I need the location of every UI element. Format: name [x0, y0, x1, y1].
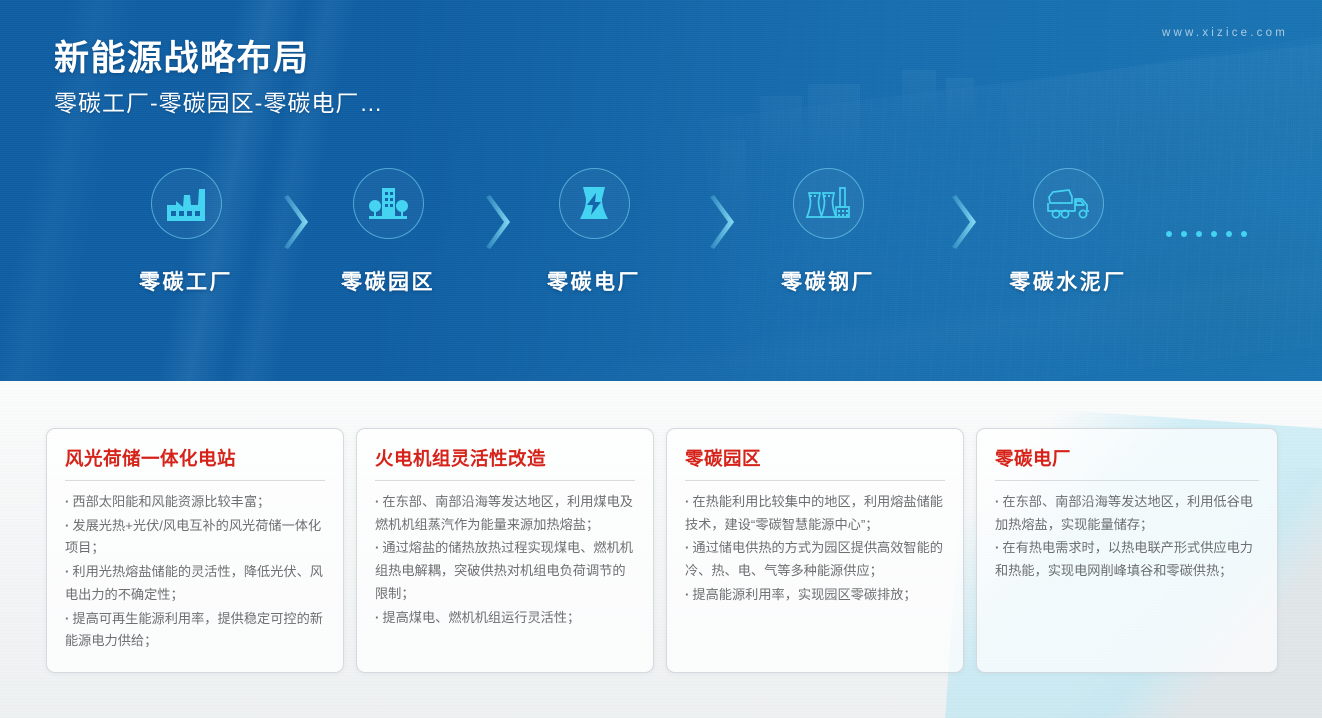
dot — [1181, 231, 1187, 237]
flow-step-label: 零碳园区 — [308, 266, 468, 296]
bullet-item: 在东部、南部沿海等发达地区，利用低谷电加热熔盐，实现能量储存； — [995, 491, 1259, 536]
bullet-item: 在热能利用比较集中的地区，利用熔盐储能技术，建设“零碳智慧能源中心”； — [685, 491, 945, 536]
power-plant-icon-circle — [559, 168, 630, 239]
bullet-item: 提高能源利用率，实现园区零碳排放； — [685, 584, 945, 607]
flow-step-factory[interactable]: 零碳工厂 — [106, 168, 266, 296]
bullet-item: 在有热电需求时，以热电联产形式供应电力和热能，实现电网削峰填谷和零碳供热； — [995, 537, 1259, 582]
card-title: 风光荷储一体化电站 — [65, 445, 325, 481]
factory-icon — [165, 185, 207, 223]
hero-banner: 新能源战略布局 零碳工厂-零碳园区-零碳电厂… www.xizice.com 零… — [0, 0, 1322, 381]
page-title: 新能源战略布局 — [54, 30, 310, 81]
dot — [1211, 231, 1217, 237]
flow-step-steel-plant[interactable]: 零碳钢厂 — [748, 168, 908, 296]
flow-step-label: 零碳电厂 — [514, 266, 674, 296]
card-wind-solar-storage[interactable]: 风光荷储一体化电站 西部太阳能和风能资源比较丰富； 发展光热+光伏/风电互补的风… — [46, 428, 344, 673]
page-subtitle: 零碳工厂-零碳园区-零碳电厂… — [54, 84, 383, 118]
flow-step-park[interactable]: 零碳园区 — [308, 168, 468, 296]
dot — [1226, 231, 1232, 237]
flow-trailing-dots — [1166, 231, 1247, 237]
factory-icon-circle — [151, 168, 222, 239]
card-bullets: 在东部、南部沿海等发达地区，利用低谷电加热熔盐，实现能量储存； 在有热电需求时，… — [995, 491, 1259, 583]
content-section: 风光荷储一体化电站 西部太阳能和风能资源比较丰富； 发展光热+光伏/风电互补的风… — [0, 381, 1322, 718]
industrial-park-icon — [367, 185, 409, 223]
cement-truck-icon-circle — [1033, 168, 1104, 239]
bullet-item: 通过储电供热的方式为园区提供高效智能的冷、热、电、气等多种能源供应； — [685, 537, 945, 582]
bullet-item: 提高煤电、燃机机组运行灵活性； — [375, 607, 635, 630]
card-title: 零碳电厂 — [995, 445, 1259, 481]
card-thermal-flexibility[interactable]: 火电机组灵活性改造 在东部、南部沿海等发达地区，利用煤电及燃机机组蒸汽作为能量来… — [356, 428, 654, 673]
card-bullets: 在东部、南部沿海等发达地区，利用煤电及燃机机组蒸汽作为能量来源加热熔盐； 通过熔… — [375, 491, 635, 629]
card-list: 风光荷储一体化电站 西部太阳能和风能资源比较丰富； 发展光热+光伏/风电互补的风… — [46, 428, 1282, 673]
bullet-item: 发展光热+光伏/风电互补的风光荷储一体化项目； — [65, 515, 325, 560]
flow-step-label: 零碳钢厂 — [748, 266, 908, 296]
card-zero-carbon-power-plant[interactable]: 零碳电厂 在东部、南部沿海等发达地区，利用低谷电加热熔盐，实现能量储存； 在有热… — [976, 428, 1278, 673]
card-title: 火电机组灵活性改造 — [375, 445, 635, 481]
bullet-item: 在东部、南部沿海等发达地区，利用煤电及燃机机组蒸汽作为能量来源加热熔盐； — [375, 491, 635, 536]
flow-step-label: 零碳水泥厂 — [988, 266, 1148, 296]
flow-arrow-3 — [710, 195, 736, 249]
process-flow: 零碳工厂 — [0, 168, 1322, 308]
flow-step-cement-plant[interactable]: 零碳水泥厂 — [988, 168, 1148, 296]
bullet-item: 西部太阳能和风能资源比较丰富； — [65, 491, 325, 514]
flow-arrow-2 — [486, 195, 512, 249]
card-bullets: 西部太阳能和风能资源比较丰富； 发展光热+光伏/风电互补的风光荷储一体化项目； … — [65, 491, 325, 653]
site-watermark: www.xizice.com — [1162, 27, 1288, 39]
cement-truck-icon — [1045, 187, 1091, 221]
industrial-park-icon-circle — [353, 168, 424, 239]
bullet-item: 提高可再生能源利用率，提供稳定可控的新能源电力供给； — [65, 608, 325, 653]
steel-plant-icon-circle — [793, 168, 864, 239]
flow-step-label: 零碳工厂 — [106, 266, 266, 296]
card-zero-carbon-park[interactable]: 零碳园区 在热能利用比较集中的地区，利用熔盐储能技术，建设“零碳智慧能源中心”；… — [666, 428, 964, 673]
dot — [1166, 231, 1172, 237]
flow-arrow-1 — [284, 195, 310, 249]
card-bullets: 在热能利用比较集中的地区，利用熔盐储能技术，建设“零碳智慧能源中心”； 通过储电… — [685, 491, 945, 607]
bullet-item: 通过熔盐的储热放热过程实现煤电、燃机机组热电解耦，突破供热对机组电负荷调节的限制… — [375, 537, 635, 605]
dot — [1196, 231, 1202, 237]
flow-step-power-plant[interactable]: 零碳电厂 — [514, 168, 674, 296]
flow-arrow-4 — [952, 195, 978, 249]
steel-plant-icon — [805, 185, 851, 223]
power-plant-icon — [574, 185, 614, 223]
dot — [1241, 231, 1247, 237]
card-title: 零碳园区 — [685, 445, 945, 481]
bullet-item: 利用光热熔盐储能的灵活性，降低光伏、风电出力的不确定性； — [65, 561, 325, 606]
